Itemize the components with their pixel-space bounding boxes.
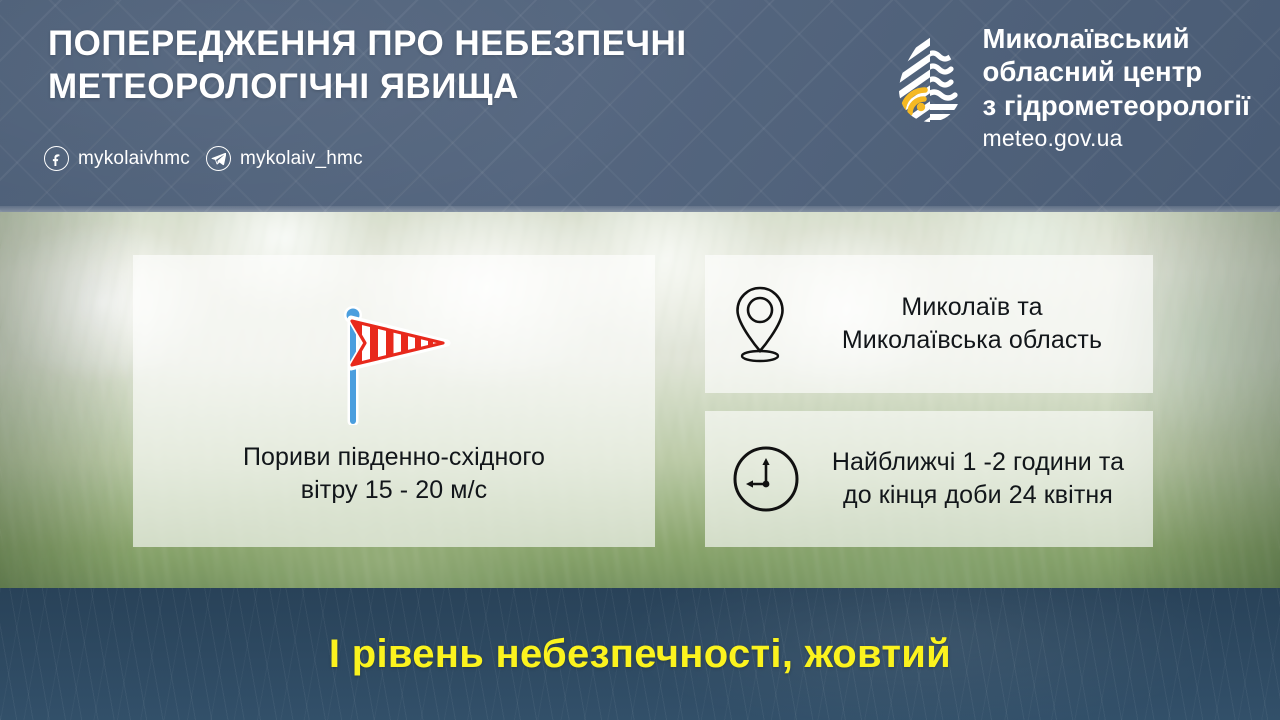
- clock-icon: [731, 444, 801, 514]
- footer-band: І рівень небезпечності, жовтий: [0, 588, 1280, 720]
- brand-website: meteo.gov.ua: [983, 125, 1250, 152]
- header-band: ПОПЕРЕДЖЕННЯ ПРО НЕБЕЗПЕЧНІ МЕТЕОРОЛОГІЧ…: [0, 0, 1280, 212]
- social-link-telegram[interactable]: mykolaiv_hmc: [206, 146, 363, 171]
- telegram-icon: [206, 146, 231, 171]
- weather-warning-poster: ПОПЕРЕДЖЕННЯ ПРО НЕБЕЗПЕЧНІ МЕТЕОРОЛОГІЧ…: [0, 0, 1280, 720]
- brand-text: Миколаївський обласний центр з гідромете…: [983, 22, 1250, 152]
- brand-block: Миколаївський обласний центр з гідромете…: [893, 22, 1250, 152]
- header-bottom-hairline: [0, 206, 1280, 212]
- facebook-icon: [44, 146, 69, 171]
- location-panel: Миколаїв та Миколаївська область: [705, 255, 1153, 393]
- hydrometeorology-droplet-logo: [893, 28, 967, 124]
- facebook-handle: mykolaivhmc: [78, 148, 190, 170]
- wind-pennant-flag-icon: [335, 297, 453, 425]
- time-text: Найближчі 1 -2 години та до кінця доби 2…: [817, 446, 1139, 512]
- social-link-facebook[interactable]: mykolaivhmc: [44, 146, 190, 171]
- phenomenon-text: Пориви південно-східного вітру 15 - 20 м…: [243, 441, 545, 506]
- social-links: mykolaivhmc mykolaiv_hmc: [44, 146, 363, 171]
- page-title: ПОПЕРЕДЖЕННЯ ПРО НЕБЕЗПЕЧНІ МЕТЕОРОЛОГІЧ…: [48, 22, 687, 108]
- brand-name: Миколаївський обласний центр з гідромете…: [983, 22, 1250, 122]
- background-vignette-left: [0, 210, 140, 590]
- telegram-handle: mykolaiv_hmc: [240, 148, 363, 170]
- time-panel: Найближчі 1 -2 години та до кінця доби 2…: [705, 411, 1153, 547]
- location-text: Миколаїв та Миколаївська область: [805, 291, 1139, 357]
- danger-level-label: І рівень небезпечності, жовтий: [0, 588, 1280, 720]
- map-pin-icon: [731, 283, 789, 365]
- phenomenon-panel: Пориви південно-східного вітру 15 - 20 м…: [133, 255, 655, 547]
